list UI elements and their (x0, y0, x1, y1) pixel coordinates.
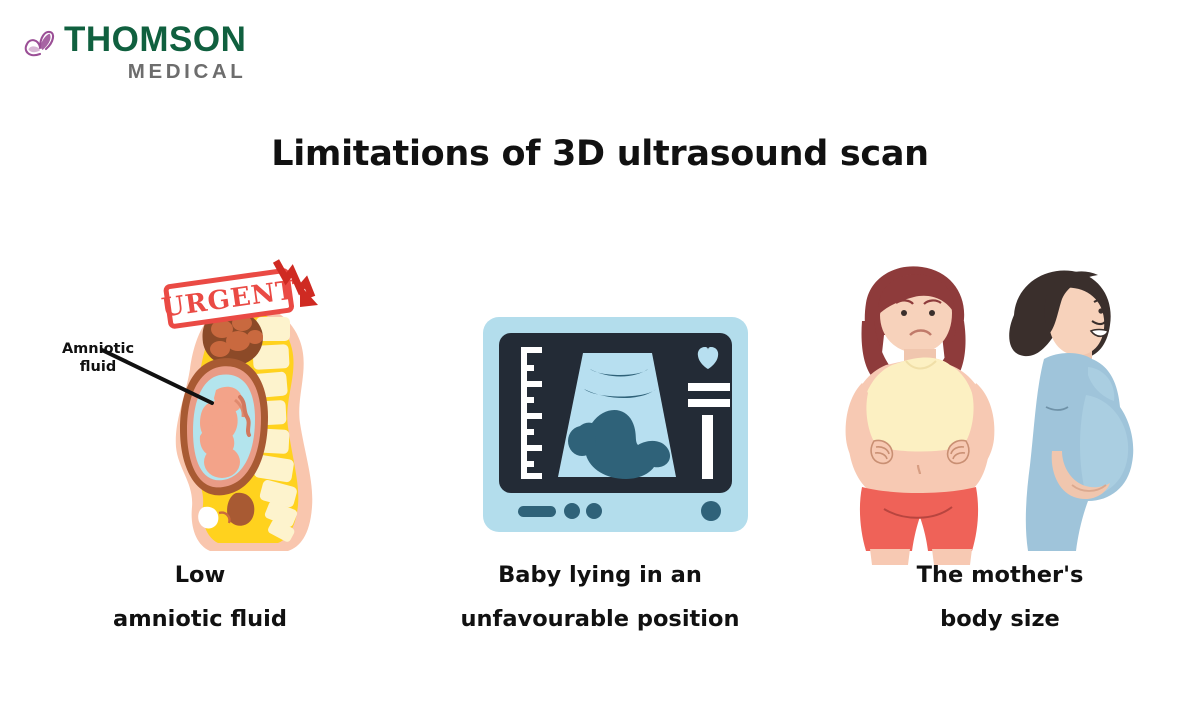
limitations-columns: URGENT Amniotic fluid Low amniotic fluid (0, 255, 1200, 675)
limitation-card-low-amniotic-fluid: URGENT Amniotic fluid Low amniotic fluid (0, 255, 400, 675)
pregnant-uterus-cross-section-illustration: URGENT Amniotic fluid (0, 255, 400, 555)
urgent-stamp-group: URGENT (159, 261, 318, 328)
power-knob (701, 501, 721, 521)
caption-low-amniotic-fluid: Low amniotic fluid (0, 553, 400, 641)
limitation-card-mothers-body-size: The mother's body size (800, 255, 1200, 675)
amniotic-fluid-annotation: Amniotic fluid (50, 340, 146, 376)
brand-logo: THOMSON MEDICAL (18, 22, 246, 83)
ultrasound-monitor-illustration (400, 255, 800, 555)
brand-name-primary: THOMSON (64, 22, 246, 57)
larger-eye-left (901, 310, 907, 316)
larger-woman-figure (846, 266, 995, 565)
larger-shorts (860, 487, 978, 551)
caption-mothers-body-size: The mother's body size (800, 553, 1200, 641)
side-slider (702, 415, 713, 479)
page-title: Limitations of 3D ultrasound scan (0, 134, 1200, 174)
fetus-head (204, 446, 240, 478)
pregnant-woman-figure (1009, 270, 1133, 551)
pregnant-eye (1098, 308, 1103, 313)
two-women-illustration (800, 255, 1200, 555)
caption-unfavourable-position: Baby lying in an unfavourable position (400, 553, 800, 641)
limitation-card-unfavourable-position: Baby lying in an unfavourable position (400, 255, 800, 675)
side-bar-1 (688, 383, 730, 391)
control-slider (518, 506, 556, 517)
larger-eye-right (929, 310, 935, 316)
control-knob-1 (564, 503, 580, 519)
side-bar-2 (688, 399, 730, 407)
brand-name-secondary: MEDICAL (64, 62, 246, 83)
butterfly-icon (18, 24, 62, 68)
control-knob-2 (586, 503, 602, 519)
